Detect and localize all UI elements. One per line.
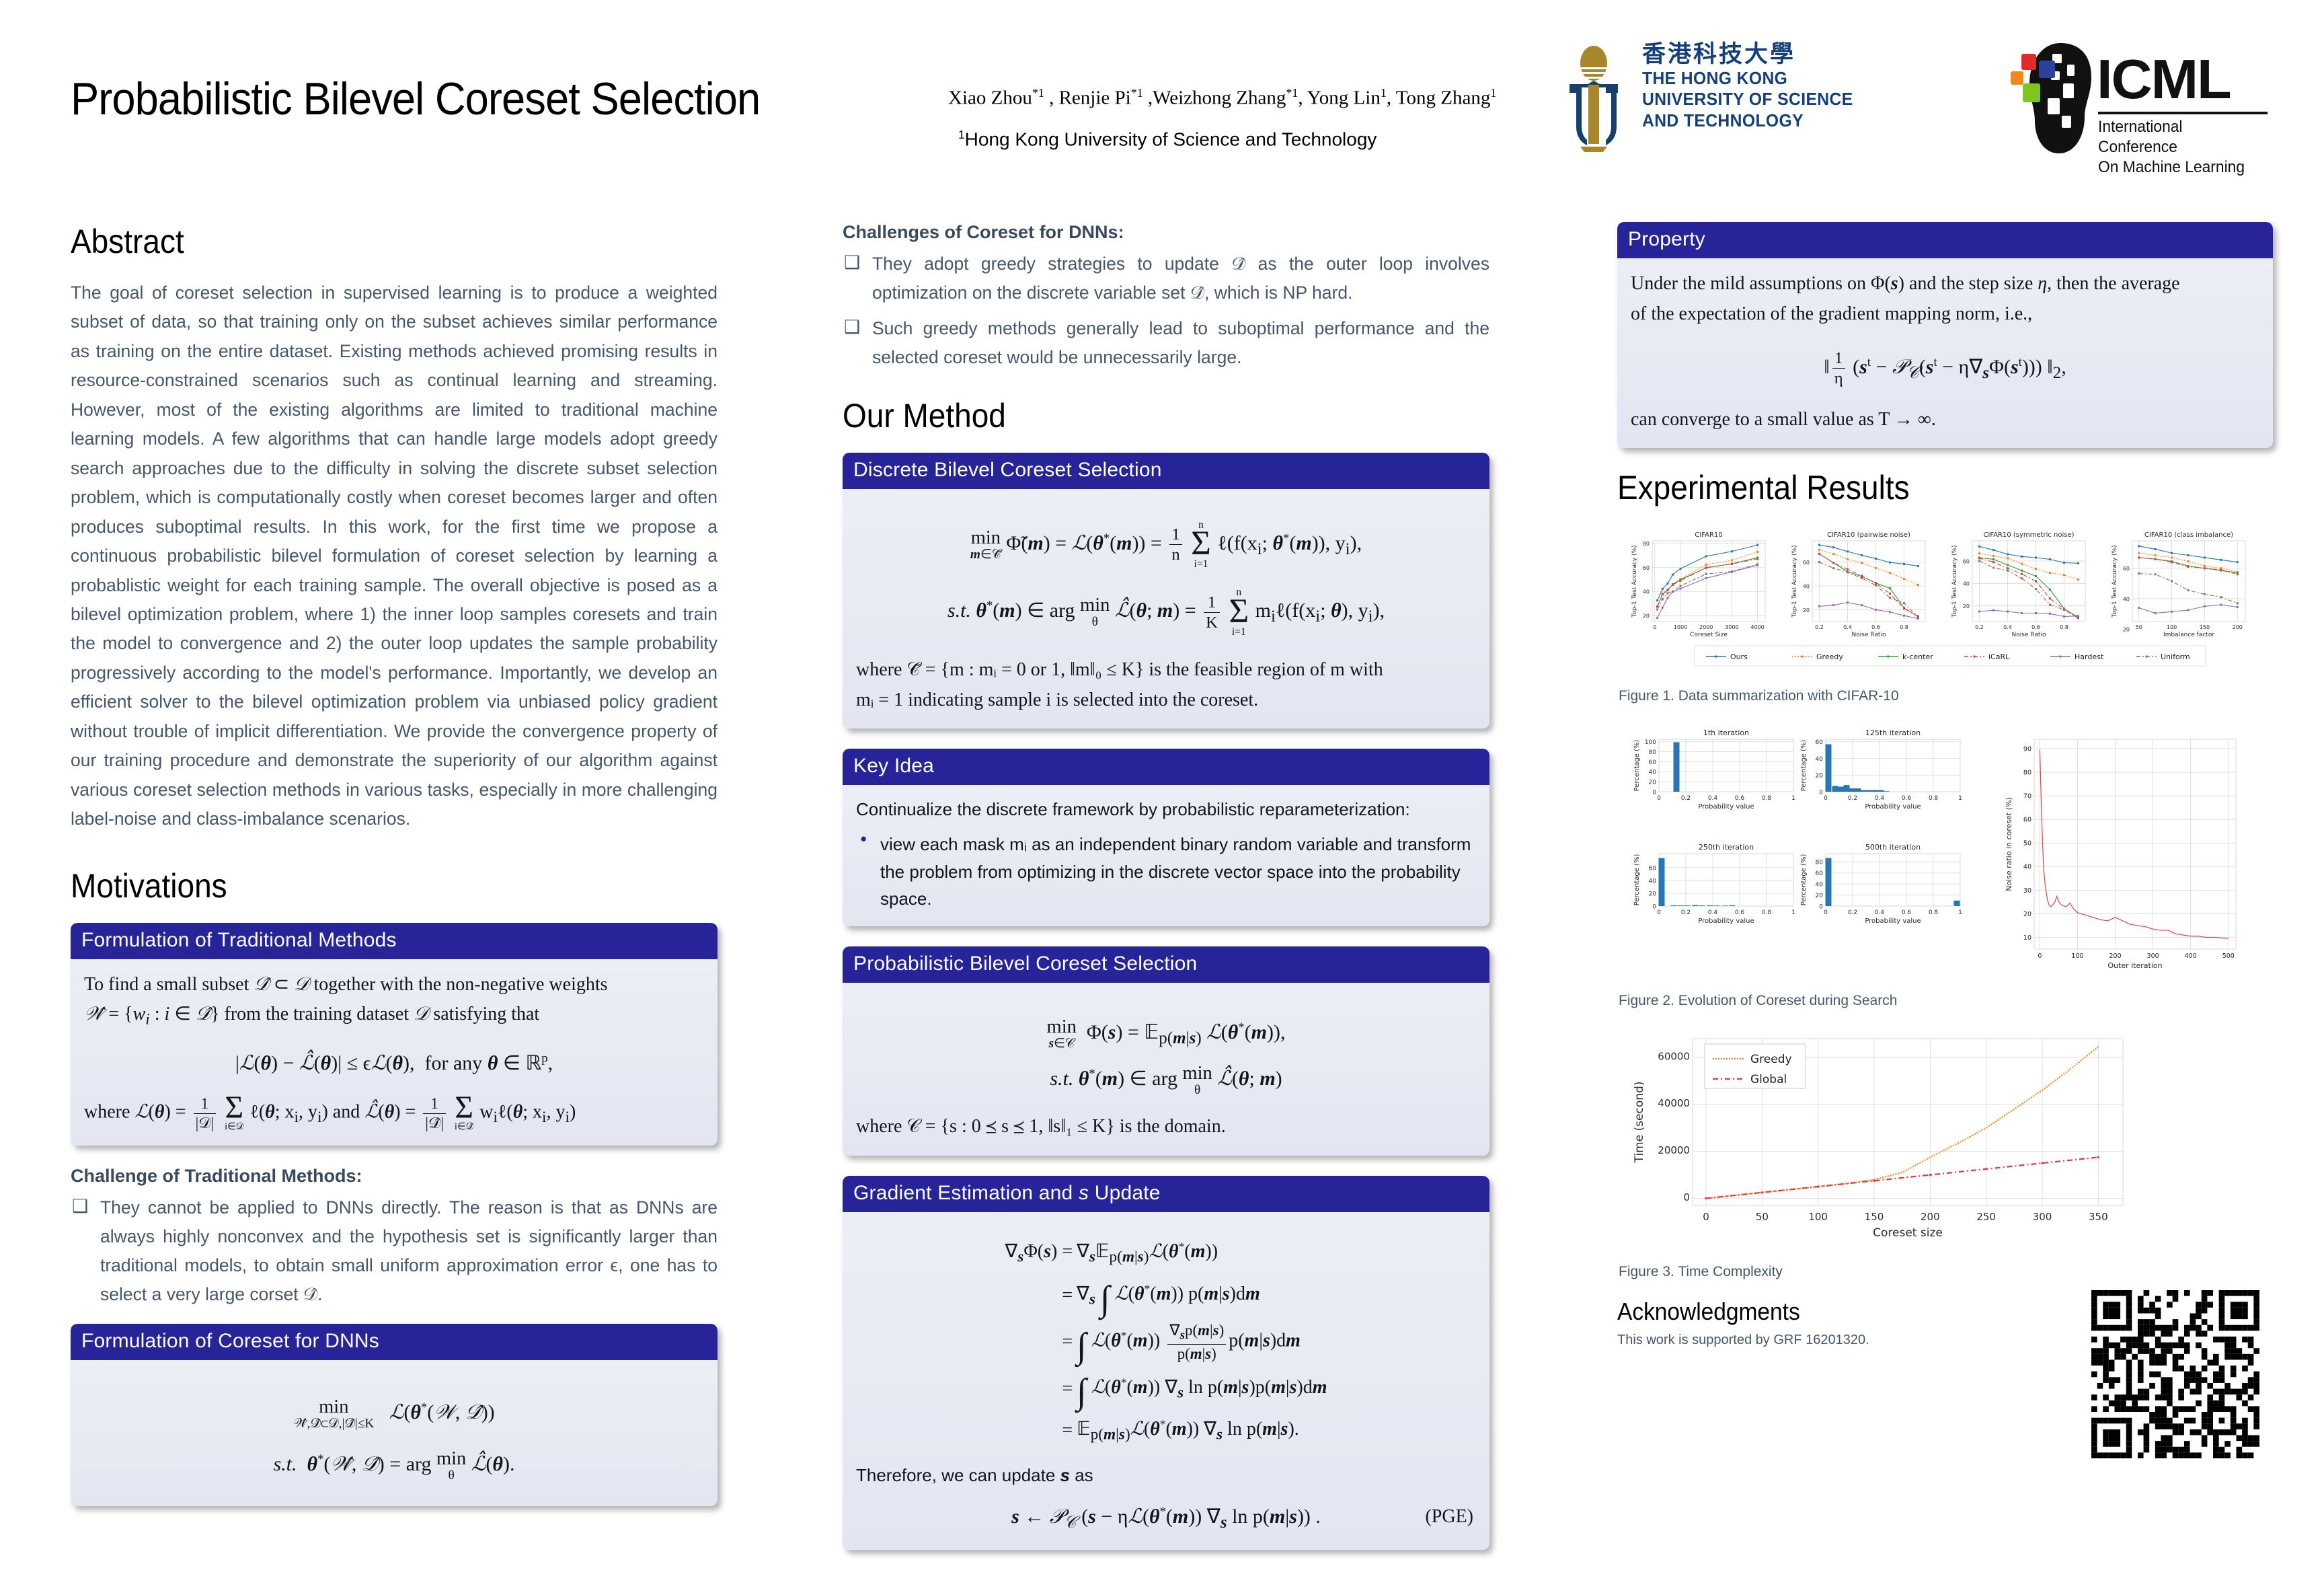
svg-text:20: 20: [1803, 607, 1810, 613]
derivation-rhs: ∇s ∫ ℒ(θ*(m)) p(m|s)dm: [1077, 1275, 1327, 1317]
prob-where: where 𝒞 = {s : 0 ⪯ s ⪯ 1, ‖s‖₁ ≤ K} is t…: [856, 1112, 1476, 1142]
svg-text:400: 400: [2185, 952, 2197, 960]
property-conclusion: can converge to a small value as T → ∞.: [1631, 405, 2259, 435]
hkust-line-1: THE HONG KONG: [1642, 68, 1910, 89]
svg-text:0.4: 0.4: [1843, 624, 1852, 630]
block-discrete-bilevel-coreset-selection: Discrete Bilevel Coreset Selection minm∈…: [843, 453, 1489, 729]
block-title-discrete: Discrete Bilevel Coreset Selection: [843, 453, 1489, 489]
svg-text:80: 80: [1816, 860, 1824, 866]
svg-text:0.8: 0.8: [1762, 795, 1772, 802]
svg-text:0: 0: [1657, 909, 1661, 916]
svg-text:60: 60: [1963, 559, 1970, 565]
svg-text:1: 1: [1958, 909, 1962, 916]
figure-3-caption: Figure 3. Time Complexity: [1619, 1264, 2273, 1280]
svg-text:80: 80: [2023, 770, 2031, 777]
traditional-line-1: To find a small subset 𝒟̂ ⊂ 𝒟 together w…: [84, 970, 704, 1000]
derivation-lhs: =: [1005, 1410, 1077, 1452]
svg-text:0.6: 0.6: [2031, 624, 2040, 630]
author-list: Xiao Zhou*1 , Renjie Pi*1 ,Weizhong Zhan…: [948, 86, 1540, 110]
discrete-where-line-1: where 𝒞̃ = {m : mᵢ = 0 or 1, ‖m‖₀ ≤ K} i…: [856, 655, 1476, 685]
svg-text:Noise Ratio: Noise Ratio: [2012, 632, 2046, 638]
svg-text:Noise ratio in coreset (%): Noise ratio in coreset (%): [2005, 798, 2013, 892]
svg-text:20: 20: [1816, 773, 1824, 780]
svg-text:60: 60: [2123, 566, 2130, 572]
svg-text:40: 40: [1803, 584, 1810, 590]
page-title: Probabilistic Bilevel Coreset Selection: [71, 73, 760, 125]
challenges-dnn-heading: Challenges of Coreset for DNNs:: [843, 222, 1489, 243]
table-row: = 𝔼p(m|s)ℒ(θ*(m)) ∇s ln p(m|s).: [1005, 1410, 1327, 1452]
svg-text:0.6: 0.6: [1735, 909, 1745, 916]
traditional-line-2: 𝒲̂ = {wi : i ∈ 𝒟̂} from the training dat…: [84, 1000, 704, 1033]
block-key-idea: Key Idea Continualize the discrete frame…: [843, 749, 1489, 926]
traditional-where: where ℒ(θ) = 1|𝒟| Σi∈𝒟 ℓ(θ; xi, yi) and …: [84, 1094, 704, 1132]
svg-text:0.2: 0.2: [1848, 909, 1857, 916]
svg-text:CIFAR10 (class imbalance): CIFAR10 (class imbalance): [2144, 531, 2233, 539]
icml-subtitle-line-1: International Conference: [2098, 117, 2264, 157]
svg-text:0.8: 0.8: [1929, 909, 1939, 916]
svg-text:40: 40: [1643, 589, 1650, 595]
svg-text:20: 20: [1649, 891, 1657, 898]
svg-text:0.2: 0.2: [1815, 624, 1824, 630]
svg-text:Probability value: Probability value: [1698, 803, 1754, 811]
figure-1-plots: 0100020003000400020406080CIFAR10Coreset …: [1617, 525, 2273, 679]
svg-text:20: 20: [1649, 780, 1657, 786]
hkust-shield-icon: [1553, 46, 1634, 153]
svg-text:0: 0: [2038, 952, 2042, 960]
svg-text:500: 500: [2222, 952, 2235, 960]
svg-text:0: 0: [1652, 790, 1656, 796]
block-body-dnn: min𝒲̂,𝒟̂⊂𝒟,|𝒟̂|≤K ℒ(θ*(𝒲, 𝒟̂)) s.t. θ*(𝒲…: [71, 1360, 718, 1505]
table-row: ∇sΦ(s) = ∇s𝔼p(m|s)ℒ(θ*(m)): [1005, 1232, 1327, 1275]
svg-text:0: 0: [1653, 624, 1656, 630]
svg-text:20000: 20000: [1658, 1144, 1690, 1156]
svg-text:50: 50: [2023, 840, 2031, 848]
block-title-key-idea: Key Idea: [843, 749, 1489, 785]
svg-text:0.4: 0.4: [2003, 624, 2012, 630]
derivation-lhs: =: [1005, 1368, 1077, 1411]
svg-text:250: 250: [1976, 1211, 1996, 1223]
gradient-therefore: Therefore, we can update s as: [856, 1462, 1476, 1490]
svg-text:0: 0: [1819, 790, 1823, 796]
svg-text:200: 200: [2233, 624, 2243, 630]
svg-text:Probability value: Probability value: [1698, 918, 1754, 925]
svg-text:20: 20: [1963, 603, 1970, 609]
block-title-traditional: Formulation of Traditional Methods: [71, 923, 718, 959]
svg-text:1000: 1000: [1674, 624, 1687, 630]
svg-text:0: 0: [1652, 904, 1656, 911]
hkust-line-2: UNIVERSITY OF SCIENCE: [1642, 89, 1910, 110]
svg-text:60: 60: [1649, 759, 1657, 766]
svg-text:350: 350: [2089, 1211, 2108, 1223]
svg-text:10: 10: [2023, 934, 2031, 942]
list-item: They cannot be applied to DNNs directly.…: [71, 1193, 718, 1309]
svg-text:CIFAR10 (pairwise noise): CIFAR10 (pairwise noise): [1827, 531, 1910, 539]
property-equation: ‖1η (st − 𝒫𝒞(st − η∇sΦ(st))) ‖2,: [1631, 348, 2259, 389]
svg-text:1: 1: [1791, 795, 1795, 802]
svg-text:Greedy: Greedy: [1750, 1053, 1792, 1066]
hkust-logo: 香港科技大學 THE HONG KONG UNIVERSITY OF SCIEN…: [1553, 42, 1930, 156]
svg-text:Greedy: Greedy: [1816, 652, 1843, 661]
table-row: = ∫ ℒ(θ*(m)) ∇sp(m|s)p(m|s)p(m|s)dm: [1005, 1316, 1327, 1368]
svg-text:Percentage (%): Percentage (%): [1800, 740, 1808, 792]
gradient-derivation: ∇sΦ(s) = ∇s𝔼p(m|s)ℒ(θ*(m)) = ∇s ∫ ℒ(θ*(m…: [1005, 1232, 1327, 1453]
dnn-equation-min: min𝒲̂,𝒟̂⊂𝒟,|𝒟̂|≤K ℒ(θ*(𝒲, 𝒟̂)): [84, 1396, 704, 1431]
svg-text:20: 20: [2023, 911, 2031, 918]
svg-text:Probability value: Probability value: [1865, 918, 1921, 925]
svg-text:60: 60: [2023, 817, 2031, 824]
svg-text:60: 60: [1816, 871, 1824, 878]
svg-text:0.8: 0.8: [2060, 624, 2068, 630]
figure-2-plots: 00.20.40.60.810204060801001th iterationP…: [1617, 722, 2273, 984]
challenge-traditional-heading: Challenge of Traditional Methods:: [71, 1166, 718, 1187]
key-idea-list: view each mask mᵢ as an independent bina…: [856, 831, 1476, 913]
motivations-heading: Motivations: [71, 866, 666, 905]
svg-text:200: 200: [2109, 952, 2121, 960]
derivation-lhs: =: [1005, 1316, 1077, 1368]
svg-text:0: 0: [1824, 909, 1828, 916]
svg-text:60: 60: [1816, 740, 1824, 747]
svg-text:Top-1 Test Accuracy (%): Top-1 Test Accuracy (%): [1791, 546, 1798, 618]
svg-text:Global: Global: [1750, 1073, 1787, 1086]
svg-text:30: 30: [2023, 887, 2031, 895]
figure-1-caption: Figure 1. Data summarization with CIFAR-…: [1619, 688, 2273, 704]
block-title-gradient: Gradient Estimation and s Update: [843, 1176, 1489, 1212]
gradient-final-row: s ← 𝒫𝒞 (s − ηℒ(θ*(m)) ∇s ln p(m|s)) . (P…: [856, 1501, 1476, 1536]
key-idea-intro: Continualize the discrete framework by p…: [856, 796, 1476, 824]
svg-text:0.6: 0.6: [1902, 795, 1912, 802]
svg-text:iCaRL: iCaRL: [1988, 652, 2010, 661]
svg-text:100: 100: [1645, 740, 1656, 747]
svg-text:Imbalance factor: Imbalance factor: [2163, 632, 2214, 638]
icml-divider: [2098, 112, 2268, 114]
svg-text:40: 40: [1816, 756, 1824, 763]
svg-text:0: 0: [1683, 1191, 1690, 1203]
svg-text:2000: 2000: [1699, 624, 1713, 630]
block-body-key-idea: Continualize the discrete framework by p…: [843, 785, 1489, 926]
dnn-equation-st: s.t. θ*(𝒲̂, 𝒟̂) = arg minθ ℒ̂(θ).: [84, 1448, 704, 1483]
prob-equation-2: s.t. θ*(m) ∈ arg minθ ℒ̂(θ; m): [856, 1063, 1476, 1097]
derivation-rhs: ∇s𝔼p(m|s)ℒ(θ*(m)): [1077, 1232, 1327, 1275]
svg-text:0.2: 0.2: [1681, 795, 1691, 802]
block-title-dnn: Formulation of Coreset for DNNs: [71, 1324, 718, 1360]
table-row: = ∫ ℒ(θ*(m)) ∇s ln p(m|s)p(m|s)dm: [1005, 1368, 1327, 1411]
svg-text:40: 40: [1649, 770, 1657, 776]
svg-text:60: 60: [1803, 560, 1810, 566]
svg-text:250th iteration: 250th iteration: [1699, 843, 1754, 852]
traditional-equation: |ℒ(θ) − ℒ̂(θ)| ≤ ϵℒ(θ), for any θ ∈ ℝp,: [84, 1047, 704, 1080]
poster-root: Probabilistic Bilevel Coreset Selection …: [0, 0, 2324, 1550]
discrete-equation-2: s.t. θ*(m) ∈ arg minθ ℒ̂(θ; m) = 1K nΣi=…: [856, 587, 1476, 638]
block-body-gradient: ∇sΦ(s) = ∇s𝔼p(m|s)ℒ(θ*(m)) = ∇s ∫ ℒ(θ*(m…: [843, 1212, 1489, 1550]
svg-text:80: 80: [1643, 541, 1650, 547]
svg-text:Outer iteration: Outer iteration: [2107, 961, 2162, 970]
svg-text:0: 0: [1824, 795, 1828, 802]
figure-2-caption: Figure 2. Evolution of Coreset during Se…: [1619, 993, 2273, 1009]
svg-text:20: 20: [1816, 893, 1824, 899]
derivation-rhs: 𝔼p(m|s)ℒ(θ*(m)) ∇s ln p(m|s).: [1077, 1410, 1327, 1452]
list-item: Such greedy methods generally lead to su…: [843, 314, 1489, 372]
poster-header: Probabilistic Bilevel Coreset Selection …: [0, 0, 2324, 188]
hkust-line-3: AND TECHNOLOGY: [1642, 110, 1910, 132]
derivation-lhs: ∇sΦ(s) =: [1005, 1232, 1077, 1275]
svg-text:Percentage (%): Percentage (%): [1633, 854, 1641, 906]
property-line-2: of the expectation of the gradient mappi…: [1631, 299, 2259, 330]
svg-text:20: 20: [1643, 613, 1650, 620]
svg-text:0.4: 0.4: [1708, 795, 1718, 802]
svg-text:60000: 60000: [1658, 1051, 1690, 1063]
svg-text:0.8: 0.8: [1929, 795, 1939, 802]
experimental-results-heading: Experimental Results: [1617, 468, 2220, 507]
challenges-dnn-list: They adopt greedy strategies to update 𝒟…: [843, 250, 1489, 372]
block-title-property: Property: [1617, 222, 2273, 258]
icml-logo: ICML International Conference On Machine…: [1937, 39, 2273, 160]
svg-text:0.2: 0.2: [1848, 795, 1857, 802]
svg-text:0.6: 0.6: [1871, 624, 1880, 630]
svg-text:300: 300: [2147, 952, 2159, 960]
hkust-wordmark: 香港科技大學 THE HONG KONG UNIVERSITY OF SCIEN…: [1642, 42, 1925, 132]
svg-text:Top-1 Test Accuracy (%): Top-1 Test Accuracy (%): [1951, 546, 1958, 618]
figure-1: 0100020003000400020406080CIFAR10Coreset …: [1617, 525, 2273, 683]
svg-text:0.2: 0.2: [1681, 909, 1691, 916]
svg-text:40: 40: [1963, 581, 1970, 587]
svg-text:0.4: 0.4: [1875, 795, 1885, 802]
svg-text:40: 40: [2123, 597, 2130, 603]
gradient-equation-tag: (PGE): [1425, 1502, 1473, 1532]
svg-text:Uniform: Uniform: [2161, 652, 2190, 661]
svg-text:40: 40: [2023, 864, 2031, 871]
svg-text:1: 1: [1958, 795, 1962, 802]
svg-text:300: 300: [2033, 1211, 2052, 1223]
gradient-final-equation: s ← 𝒫𝒞 (s − ηℒ(θ*(m)) ∇s ln p(m|s)) .: [856, 1501, 1476, 1536]
abstract-heading: Abstract: [71, 222, 666, 261]
block-body-discrete: minm∈𝒞̃ Φ̃(m) = ℒ(θ*(m)) = 1n nΣi=1 ℓ(f(…: [843, 489, 1489, 729]
figure-3: 0501001502002503003500200004000060000Cor…: [1617, 1026, 2273, 1259]
svg-text:0.8: 0.8: [1762, 909, 1772, 916]
block-title-probabilistic: Probabilistic Bilevel Coreset Selection: [843, 946, 1489, 983]
block-body-probabilistic: mins∈𝒞 Φ(s) = 𝔼p(m|s) ℒ(θ*(m)), s.t. θ*(…: [843, 983, 1489, 1156]
block-property: Property Under the mild assumptions on Φ…: [1617, 222, 2273, 448]
svg-text:0.4: 0.4: [1708, 909, 1718, 916]
svg-text:0.4: 0.4: [1875, 909, 1885, 916]
svg-text:0: 0: [1703, 1211, 1709, 1223]
svg-text:Top-1 Test Accuracy (%): Top-1 Test Accuracy (%): [2112, 546, 2118, 618]
svg-text:Probability value: Probability value: [1865, 803, 1921, 811]
svg-text:90: 90: [2023, 746, 2031, 753]
svg-text:80: 80: [1649, 749, 1657, 756]
svg-text:Hardest: Hardest: [2075, 652, 2104, 661]
svg-text:Noise Ratio: Noise Ratio: [1852, 632, 1886, 638]
derivation-lhs: =: [1005, 1275, 1077, 1317]
property-line-1: Under the mild assumptions on Φ(s) and t…: [1631, 269, 2259, 299]
column-right: Property Under the mild assumptions on Φ…: [1617, 222, 2273, 1348]
svg-text:200: 200: [1921, 1211, 1940, 1223]
figure-2: 00.20.40.60.810204060801001th iterationP…: [1617, 722, 2273, 987]
svg-text:100: 100: [2167, 624, 2177, 630]
svg-text:CIFAR10: CIFAR10: [1695, 531, 1722, 539]
svg-text:40000: 40000: [1658, 1098, 1690, 1110]
discrete-equation-1: minm∈𝒞̃ Φ̃(m) = ℒ(θ*(m)) = 1n nΣi=1 ℓ(f(…: [856, 520, 1476, 570]
icml-blob-icon: [2011, 42, 2105, 156]
svg-text:4000: 4000: [1750, 624, 1764, 630]
svg-text:500th iteration: 500th iteration: [1865, 843, 1921, 852]
svg-text:0.8: 0.8: [1900, 624, 1908, 630]
svg-text:1th iteration: 1th iteration: [1703, 728, 1749, 737]
svg-text:Ours: Ours: [1730, 652, 1748, 661]
svg-text:50: 50: [2136, 624, 2142, 630]
svg-text:CIFAR10 (symmetric noise): CIFAR10 (symmetric noise): [1983, 531, 2074, 539]
derivation-rhs: ∫ ℒ(θ*(m)) ∇sp(m|s)p(m|s)p(m|s)dm: [1077, 1316, 1327, 1368]
svg-text:Percentage (%): Percentage (%): [1633, 740, 1641, 792]
svg-text:150: 150: [2200, 624, 2210, 630]
affiliation: 1Hong Kong University of Science and Tec…: [958, 128, 1550, 150]
svg-text:60: 60: [1649, 866, 1657, 872]
svg-text:20: 20: [2123, 627, 2130, 633]
list-item: view each mask mᵢ as an independent bina…: [856, 831, 1476, 913]
challenge-traditional-list: They cannot be applied to DNNs directly.…: [71, 1193, 718, 1309]
svg-text:0.6: 0.6: [1735, 795, 1745, 802]
discrete-where-line-2: mᵢ = 1 indicating sample i is selected i…: [856, 685, 1476, 716]
derivation-rhs: ∫ ℒ(θ*(m)) ∇s ln p(m|s)p(m|s)dm: [1077, 1368, 1327, 1411]
icml-subtitle: International Conference On Machine Lear…: [2098, 117, 2264, 178]
prob-equation-1: mins∈𝒞 Φ(s) = 𝔼p(m|s) ℒ(θ*(m)),: [856, 1016, 1476, 1052]
svg-text:Coreset Size: Coreset Size: [1690, 632, 1728, 638]
svg-text:0: 0: [1819, 904, 1823, 911]
hkust-chinese-name: 香港科技大學: [1642, 42, 1925, 68]
icml-subtitle-line-2: On Machine Learning: [2098, 157, 2264, 178]
block-formulation-coreset-dnns: Formulation of Coreset for DNNs min𝒲̂,𝒟̂…: [71, 1324, 718, 1505]
svg-text:Time (second): Time (second): [1633, 1082, 1646, 1164]
block-formulation-traditional-methods: Formulation of Traditional Methods To fi…: [71, 923, 718, 1146]
svg-text:Top-1 Test Accuracy (%): Top-1 Test Accuracy (%): [1631, 546, 1638, 618]
list-item: They adopt greedy strategies to update 𝒟…: [843, 250, 1489, 307]
column-middle: Challenges of Coreset for DNNs: They ado…: [843, 222, 1489, 1570]
svg-text:40: 40: [1816, 882, 1824, 889]
abstract-text: The goal of coreset selection in supervi…: [71, 278, 718, 834]
svg-text:60: 60: [1643, 565, 1650, 571]
svg-text:50: 50: [1756, 1211, 1769, 1223]
svg-text:150: 150: [1865, 1211, 1884, 1223]
svg-text:0.6: 0.6: [1902, 909, 1912, 916]
column-left: Abstract The goal of coreset selection i…: [71, 222, 718, 1526]
svg-text:Percentage (%): Percentage (%): [1800, 854, 1808, 906]
svg-text:3000: 3000: [1725, 624, 1738, 630]
svg-text:125th iteration: 125th iteration: [1865, 728, 1921, 737]
svg-text:100: 100: [2071, 952, 2083, 960]
block-probabilistic-bilevel-coreset-selection: Probabilistic Bilevel Coreset Selection …: [843, 946, 1489, 1156]
svg-text:k-center: k-center: [1902, 652, 1933, 661]
svg-text:40: 40: [1649, 879, 1657, 885]
svg-text:0: 0: [1657, 795, 1661, 802]
block-body-traditional: To find a small subset 𝒟̂ ⊂ 𝒟 together w…: [71, 959, 718, 1146]
svg-text:1: 1: [1791, 909, 1795, 916]
qr-code[interactable]: [2091, 1290, 2259, 1458]
our-method-heading: Our Method: [843, 396, 1438, 435]
svg-text:Coreset size: Coreset size: [1873, 1226, 1943, 1240]
icml-wordmark: ICML: [2097, 47, 2231, 112]
svg-text:70: 70: [2023, 793, 2031, 800]
svg-text:100: 100: [1808, 1211, 1828, 1223]
block-gradient-estimation-s-update: Gradient Estimation and s Update ∇sΦ(s) …: [843, 1176, 1489, 1550]
svg-text:0.2: 0.2: [1975, 624, 1984, 630]
figure-3-plot: 0501001502002503003500200004000060000Cor…: [1617, 1026, 2155, 1255]
block-body-property: Under the mild assumptions on Φ(s) and t…: [1617, 258, 2273, 448]
table-row: = ∇s ∫ ℒ(θ*(m)) p(m|s)dm: [1005, 1275, 1327, 1317]
